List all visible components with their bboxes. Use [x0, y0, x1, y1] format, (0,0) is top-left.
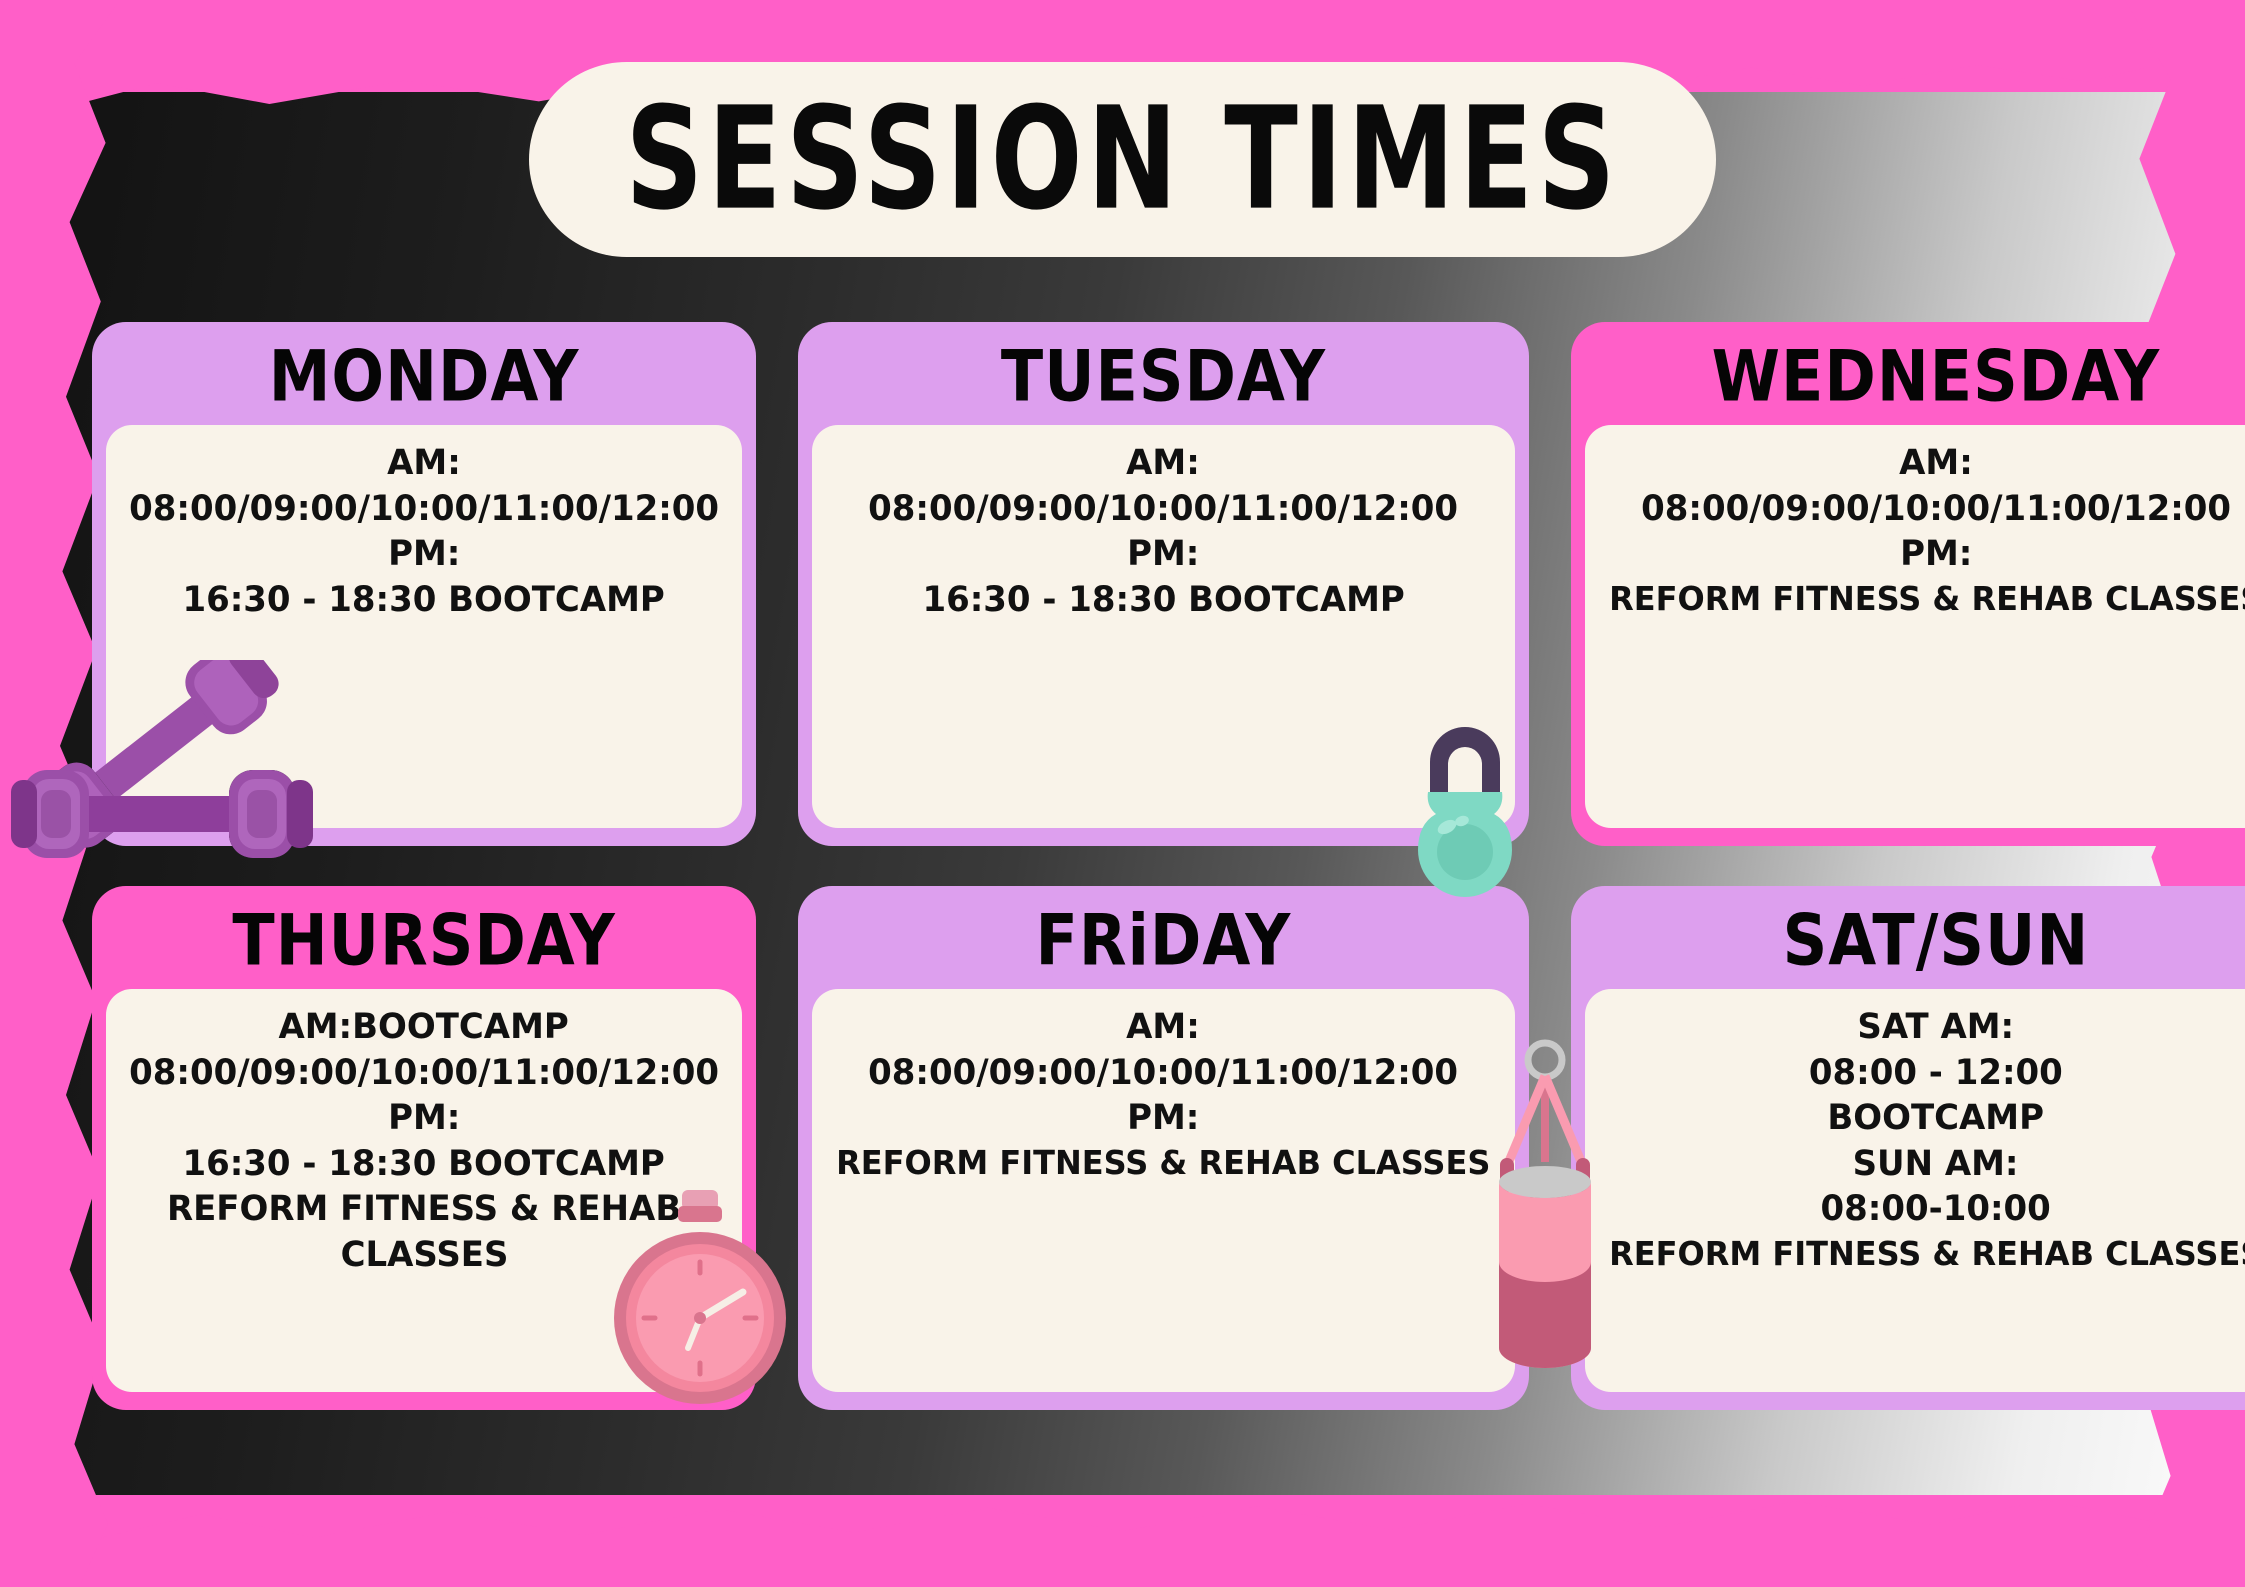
schedule-line: PM: [1900, 532, 1972, 578]
day-title-tuesday: TUESDAY [812, 325, 1515, 431]
schedule-line: BOOTCAMP [1828, 1096, 2045, 1142]
day-card-wednesday: WEDNESDAY AM: 08:00/09:00/10:00/11:00/12… [1571, 322, 2245, 846]
schedule-grid: MONDAY AM: 08:00/09:00/10:00/11:00/12:00… [92, 322, 2154, 1410]
day-panel-monday: AM: 08:00/09:00/10:00/11:00/12:00 PM: 16… [106, 425, 742, 828]
schedule-line: AM: [1127, 441, 1201, 487]
schedule-line: PM: [388, 1096, 460, 1142]
day-title-monday: MONDAY [106, 325, 742, 431]
schedule-line: SAT AM: [1858, 1005, 2015, 1051]
schedule-line: 16:30 - 18:30 BOOTCAMP [922, 578, 1404, 624]
day-panel-thursday: AM:BOOTCAMP 08:00/09:00/10:00/11:00/12:0… [106, 989, 742, 1392]
schedule-line: 16:30 - 18:30 BOOTCAMP [183, 578, 665, 624]
schedule-line: REFORM FITNESS & REHAB [167, 1187, 681, 1233]
day-panel-wednesday: AM: 08:00/09:00/10:00/11:00/12:00 PM: RE… [1585, 425, 2245, 828]
day-card-monday: MONDAY AM: 08:00/09:00/10:00/11:00/12:00… [92, 322, 756, 846]
schedule-line: REFORM FITNESS & REHAB CLASSES [836, 1142, 1490, 1185]
day-title-friday: FRiDAY [812, 889, 1515, 995]
schedule-line: 08:00/09:00/10:00/11:00/12:00 [1641, 487, 2231, 533]
schedule-line: CLASSES [340, 1233, 508, 1279]
day-title-wednesday: WEDNESDAY [1585, 325, 2245, 431]
schedule-line: SUN AM: [1853, 1142, 2019, 1188]
schedule-line: AM: [387, 441, 461, 487]
schedule-line: PM: [388, 532, 460, 578]
schedule-line: 08:00/09:00/10:00/11:00/12:00 [129, 487, 719, 533]
schedule-line: 08:00/09:00/10:00/11:00/12:00 [129, 1051, 719, 1097]
page-title: SESSION TIMES [625, 89, 1620, 231]
day-title-satsun: SAT/SUN [1585, 889, 2245, 995]
schedule-line: REFORM FITNESS & REHAB CLASSES [1609, 578, 2245, 621]
schedule-line: PM: [1127, 532, 1199, 578]
schedule-line: PM: [1127, 1096, 1199, 1142]
day-card-satsun: SAT/SUN SAT AM: 08:00 - 12:00 BOOTCAMP S… [1571, 886, 2245, 1410]
day-title-thursday: THURSDAY [106, 889, 742, 995]
schedule-line: AM:BOOTCAMP [279, 1005, 569, 1051]
day-card-thursday: THURSDAY AM:BOOTCAMP 08:00/09:00/10:00/1… [92, 886, 756, 1410]
day-card-tuesday: TUESDAY AM: 08:00/09:00/10:00/11:00/12:0… [798, 322, 1529, 846]
day-panel-tuesday: AM: 08:00/09:00/10:00/11:00/12:00 PM: 16… [812, 425, 1515, 828]
schedule-line: 08:00 - 12:00 [1809, 1051, 2063, 1097]
day-card-friday: FRiDAY AM: 08:00/09:00/10:00/11:00/12:00… [798, 886, 1529, 1410]
schedule-line: 16:30 - 18:30 BOOTCAMP [183, 1142, 665, 1188]
schedule-line: AM: [1899, 441, 1973, 487]
schedule-line: 08:00-10:00 [1821, 1187, 2051, 1233]
title-banner: SESSION TIMES [529, 62, 1716, 257]
schedule-line: AM: [1127, 1005, 1201, 1051]
schedule-line: REFORM FITNESS & REHAB CLASSES [1609, 1233, 2245, 1276]
day-panel-satsun: SAT AM: 08:00 - 12:00 BOOTCAMP SUN AM: 0… [1585, 989, 2245, 1392]
day-panel-friday: AM: 08:00/09:00/10:00/11:00/12:00 PM: RE… [812, 989, 1515, 1392]
schedule-line: 08:00/09:00/10:00/11:00/12:00 [868, 1051, 1458, 1097]
schedule-line: 08:00/09:00/10:00/11:00/12:00 [868, 487, 1458, 533]
